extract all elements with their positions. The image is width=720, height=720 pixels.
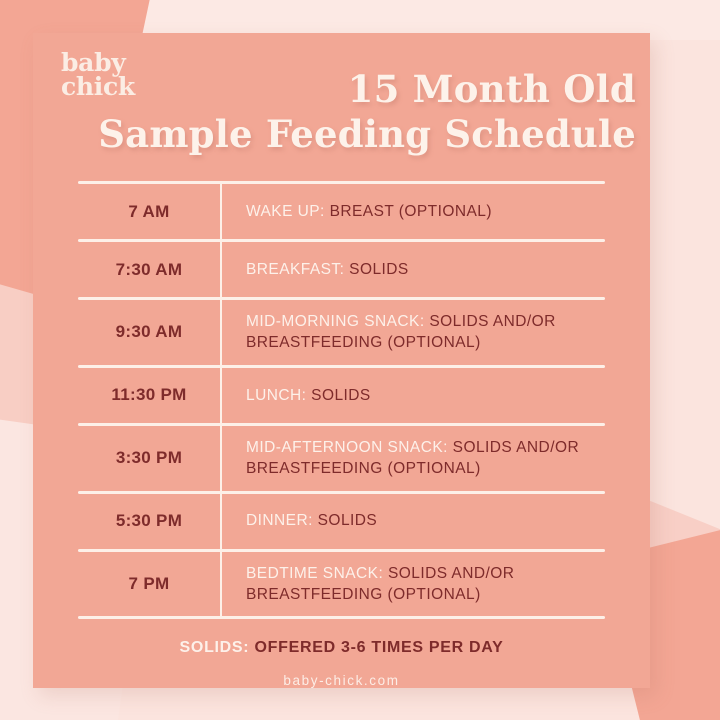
- row-column-divider: [220, 184, 222, 239]
- row-time: 3:30 PM: [78, 437, 220, 479]
- row-description: WAKE UP: BREAST (OPTIONAL): [220, 190, 605, 233]
- table-row: 3:30 PM MID-AFTERNOON SNACK: SOLIDS AND/…: [78, 426, 605, 491]
- solids-note-value: OFFERED 3-6 TIMES PER DAY: [249, 639, 503, 656]
- row-description: MID-AFTERNOON SNACK: SOLIDS AND/OR BREAS…: [220, 426, 605, 491]
- table-row: 5:30 PM DINNER: SOLIDS: [78, 494, 605, 549]
- row-time: 7 AM: [78, 191, 220, 233]
- website-url: baby-chick.com: [78, 673, 605, 688]
- page-title-line-1: 15 Month Old: [98, 71, 636, 108]
- table-row: 9:30 AM MID-MORNING SNACK: SOLIDS AND/OR…: [78, 300, 605, 365]
- poster-canvas: baby chick 15 Month Old Sample Feeding S…: [0, 0, 720, 720]
- row-meal-value: SOLIDS: [344, 261, 408, 278]
- row-column-divider: [220, 426, 222, 491]
- row-meal-label: LUNCH:: [246, 387, 306, 404]
- row-meal-label: BEDTIME SNACK:: [246, 565, 383, 582]
- row-meal-value: SOLIDS: [313, 512, 377, 529]
- row-description: MID-MORNING SNACK: SOLIDS AND/OR BREASTF…: [220, 300, 605, 365]
- row-column-divider: [220, 368, 222, 423]
- row-description: BREAKFAST: SOLIDS: [220, 248, 605, 291]
- table-row: 7 AM WAKE UP: BREAST (OPTIONAL): [78, 184, 605, 239]
- row-time: 9:30 AM: [78, 311, 220, 353]
- row-column-divider: [220, 552, 222, 617]
- schedule-card: baby chick 15 Month Old Sample Feeding S…: [33, 33, 650, 688]
- solids-note-label: SOLIDS:: [180, 639, 250, 656]
- table-row: 7:30 AM BREAKFAST: SOLIDS: [78, 242, 605, 297]
- row-description: DINNER: SOLIDS: [220, 499, 605, 542]
- table-rule: [78, 616, 605, 619]
- row-time: 7:30 AM: [78, 249, 220, 291]
- row-time: 5:30 PM: [78, 500, 220, 542]
- solids-note: SOLIDS: OFFERED 3-6 TIMES PER DAY: [78, 621, 605, 657]
- row-meal-value: BREAST (OPTIONAL): [325, 203, 492, 220]
- table-row: 11:30 PM LUNCH: SOLIDS: [78, 368, 605, 423]
- row-description: LUNCH: SOLIDS: [220, 374, 605, 417]
- row-description: BEDTIME SNACK: SOLIDS AND/OR BREASTFEEDI…: [220, 552, 605, 617]
- card-footer: SOLIDS: OFFERED 3-6 TIMES PER DAY baby-c…: [78, 621, 605, 688]
- row-column-divider: [220, 242, 222, 297]
- row-meal-label: BREAKFAST:: [246, 261, 344, 278]
- row-column-divider: [220, 494, 222, 549]
- card-header: baby chick 15 Month Old Sample Feeding S…: [33, 33, 650, 168]
- row-time: 7 PM: [78, 563, 220, 605]
- row-meal-label: WAKE UP:: [246, 203, 325, 220]
- row-meal-label: MID-MORNING SNACK:: [246, 313, 425, 330]
- row-column-divider: [220, 300, 222, 365]
- page-title: 15 Month Old Sample Feeding Schedule: [98, 71, 636, 153]
- feeding-schedule-table: 7 AM WAKE UP: BREAST (OPTIONAL) 7:30 AM …: [78, 181, 605, 619]
- table-row: 7 PM BEDTIME SNACK: SOLIDS AND/OR BREAST…: [78, 552, 605, 617]
- page-title-line-2: Sample Feeding Schedule: [98, 116, 636, 153]
- row-time: 11:30 PM: [78, 374, 220, 416]
- row-meal-label: MID-AFTERNOON SNACK:: [246, 439, 448, 456]
- row-meal-value: SOLIDS: [306, 387, 370, 404]
- row-meal-label: DINNER:: [246, 512, 313, 529]
